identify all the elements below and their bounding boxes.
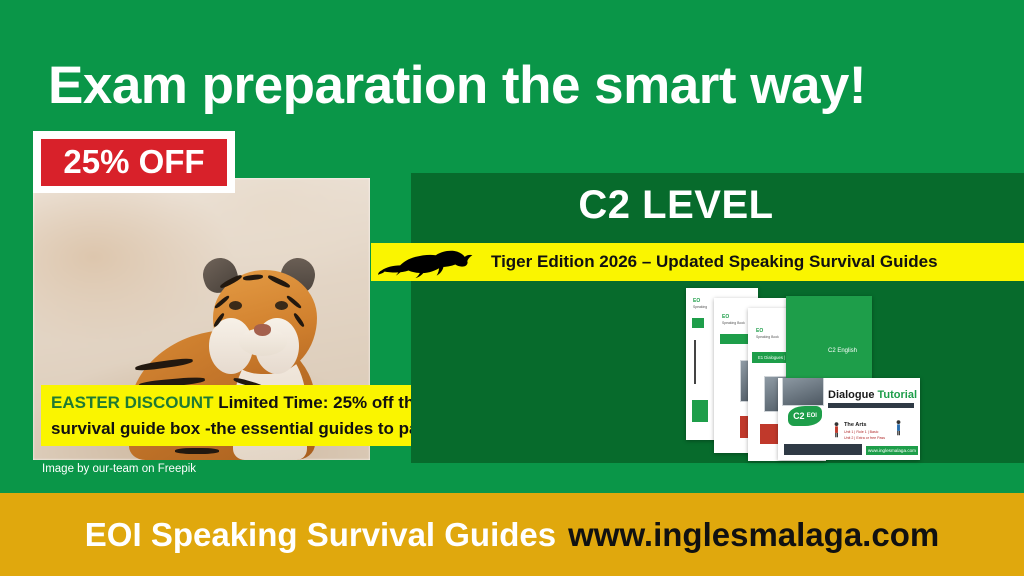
dialogue-subtitle-bar	[828, 403, 914, 408]
offer-highlight: EASTER DISCOUNT	[51, 393, 213, 412]
dialogue-title: Dialogue Tutorial	[828, 389, 917, 401]
dialogue-topic-sub-1: Unit 1 | Role 1 | Basic	[844, 430, 878, 434]
footer-url[interactable]: www.inglesmalaga.com	[568, 516, 939, 554]
book-bar-label-c2: C2 English	[828, 348, 857, 354]
book-stack: EO Speaking EO Speaking Book EO Speaking…	[686, 286, 1024, 463]
page-title: Exam preparation the smart way!	[48, 58, 968, 114]
level-title: C2 LEVEL	[411, 183, 941, 228]
person-icon-left	[832, 422, 841, 438]
edition-strip: Tiger Edition 2026 – Updated Speaking Su…	[371, 243, 1024, 281]
c2-eoi-badge: C2EOI	[788, 406, 822, 426]
dialogue-topic: The Arts	[844, 422, 866, 428]
book-cover-front-dialogue: Dialogue Tutorial C2EOI The Arts Unit 1 …	[778, 378, 920, 460]
footer-brand: EOI Speaking Survival Guides	[85, 516, 556, 554]
dialogue-topic-sub-2: Unit 2 | Extra or free Pass	[844, 436, 885, 440]
dialogue-url: www.inglesmalaga.com	[866, 446, 918, 455]
image-credit: Image by our-team on Freepik	[42, 463, 196, 475]
discount-badge-label: 25% OFF	[41, 139, 227, 186]
discount-badge: 25% OFF	[33, 131, 235, 193]
person-icon-right	[894, 420, 903, 436]
dialogue-footer-bar	[784, 444, 862, 455]
promo-banner: Exam preparation the smart way!	[0, 0, 1024, 576]
footer-bar: EOI Speaking Survival Guides www.inglesm…	[0, 493, 1024, 576]
edition-text: Tiger Edition 2026 – Updated Speaking Su…	[491, 252, 938, 272]
leaping-tiger-icon	[377, 245, 481, 279]
